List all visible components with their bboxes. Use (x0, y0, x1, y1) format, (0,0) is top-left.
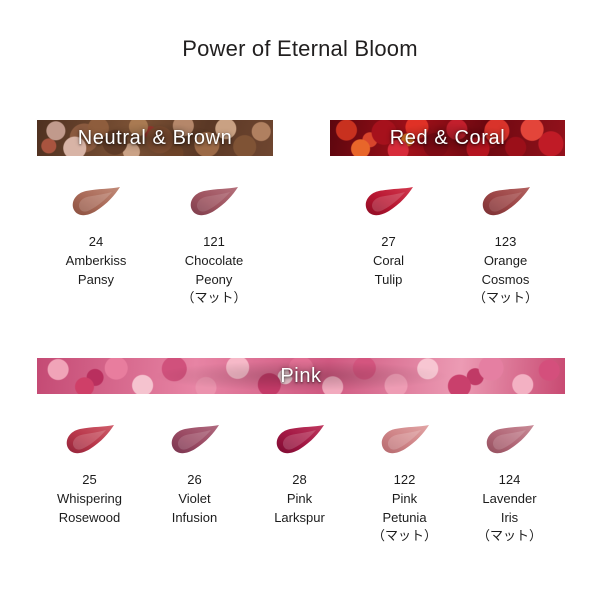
page-title: Power of Eternal Bloom (0, 0, 600, 62)
lipstick-swatch-26 (166, 422, 224, 462)
lipstick-swatch-27 (360, 184, 418, 224)
shade-name: Chocolate Peony (185, 251, 244, 289)
category-banner-pink: Pink (37, 358, 565, 394)
shade-code: 25 (82, 470, 96, 489)
shade-name: Orange Cosmos (482, 251, 530, 289)
lipstick-swatch-124 (481, 422, 539, 462)
category-label-pink: Pink (280, 365, 321, 388)
shade-finish: （マット） (473, 289, 538, 308)
shade-name: Lavender Iris (482, 489, 536, 527)
category-banner-neutral-brown: Neutral & Brown (37, 120, 273, 156)
shade-code: 124 (499, 470, 521, 489)
shade-code: 28 (292, 470, 306, 489)
shade-name: Violet Infusion (172, 489, 218, 527)
swatch-wrap-123 (477, 178, 535, 230)
shade-name: Amberkiss Pansy (66, 251, 127, 289)
shade-row-neutral-brown: 24 Amberkiss Pansy 121 (37, 178, 273, 308)
swatch-wrap-27 (360, 178, 418, 230)
swatch-wrap-121 (185, 178, 243, 230)
shade-name: Pink Larkspur (274, 489, 325, 527)
shade-code: 26 (187, 470, 201, 489)
swatch-wrap-25 (61, 416, 119, 468)
shade-item-25[interactable]: 25 Whispering Rosewood (37, 416, 142, 546)
category-label-neutral-brown: Neutral & Brown (78, 127, 233, 150)
swatch-wrap-24 (67, 178, 125, 230)
shade-finish: （マット） (181, 289, 246, 308)
shade-finish: （マット） (372, 527, 437, 546)
swatch-wrap-28 (271, 416, 329, 468)
swatch-wrap-122 (376, 416, 434, 468)
shade-finish: （マット） (477, 527, 542, 546)
lipstick-swatch-122 (376, 422, 434, 462)
swatch-wrap-124 (481, 416, 539, 468)
shade-code: 121 (203, 232, 225, 251)
shade-code: 27 (381, 232, 395, 251)
shade-item-123[interactable]: 123 Orange Cosmos （マット） (447, 178, 564, 308)
shade-code: 122 (394, 470, 416, 489)
shade-item-26[interactable]: 26 Violet Infusion (142, 416, 247, 546)
category-group-pink: Pink 25 Whispering Rosewood (37, 358, 565, 546)
shade-row-pink: 25 Whispering Rosewood (37, 416, 565, 546)
shade-item-27[interactable]: 27 Coral Tulip (330, 178, 447, 308)
shade-item-121[interactable]: 121 Chocolate Peony （マット） (155, 178, 273, 308)
lipstick-swatch-24 (67, 184, 125, 224)
shade-name: Whispering Rosewood (57, 489, 122, 527)
shade-name: Pink Petunia (382, 489, 426, 527)
lipstick-swatch-28 (271, 422, 329, 462)
lipstick-swatch-121 (185, 184, 243, 224)
shade-item-122[interactable]: 122 Pink Petunia （マット） (352, 416, 457, 546)
category-group-neutral-brown: Neutral & Brown 24 Amberkiss (37, 120, 273, 308)
swatch-wrap-26 (166, 416, 224, 468)
category-banner-red-coral: Red & Coral (330, 120, 565, 156)
shade-code: 24 (89, 232, 103, 251)
category-group-red-coral: Red & Coral 27 Coral Tulip (330, 120, 565, 308)
shade-item-124[interactable]: 124 Lavender Iris （マット） (457, 416, 562, 546)
shade-item-28[interactable]: 28 Pink Larkspur (247, 416, 352, 546)
shade-item-24[interactable]: 24 Amberkiss Pansy (37, 178, 155, 308)
shade-code: 123 (495, 232, 517, 251)
shade-name: Coral Tulip (373, 251, 404, 289)
lipstick-swatch-25 (61, 422, 119, 462)
lipstick-swatch-123 (477, 184, 535, 224)
shade-row-red-coral: 27 Coral Tulip 123 (330, 178, 565, 308)
category-label-red-coral: Red & Coral (390, 127, 506, 150)
